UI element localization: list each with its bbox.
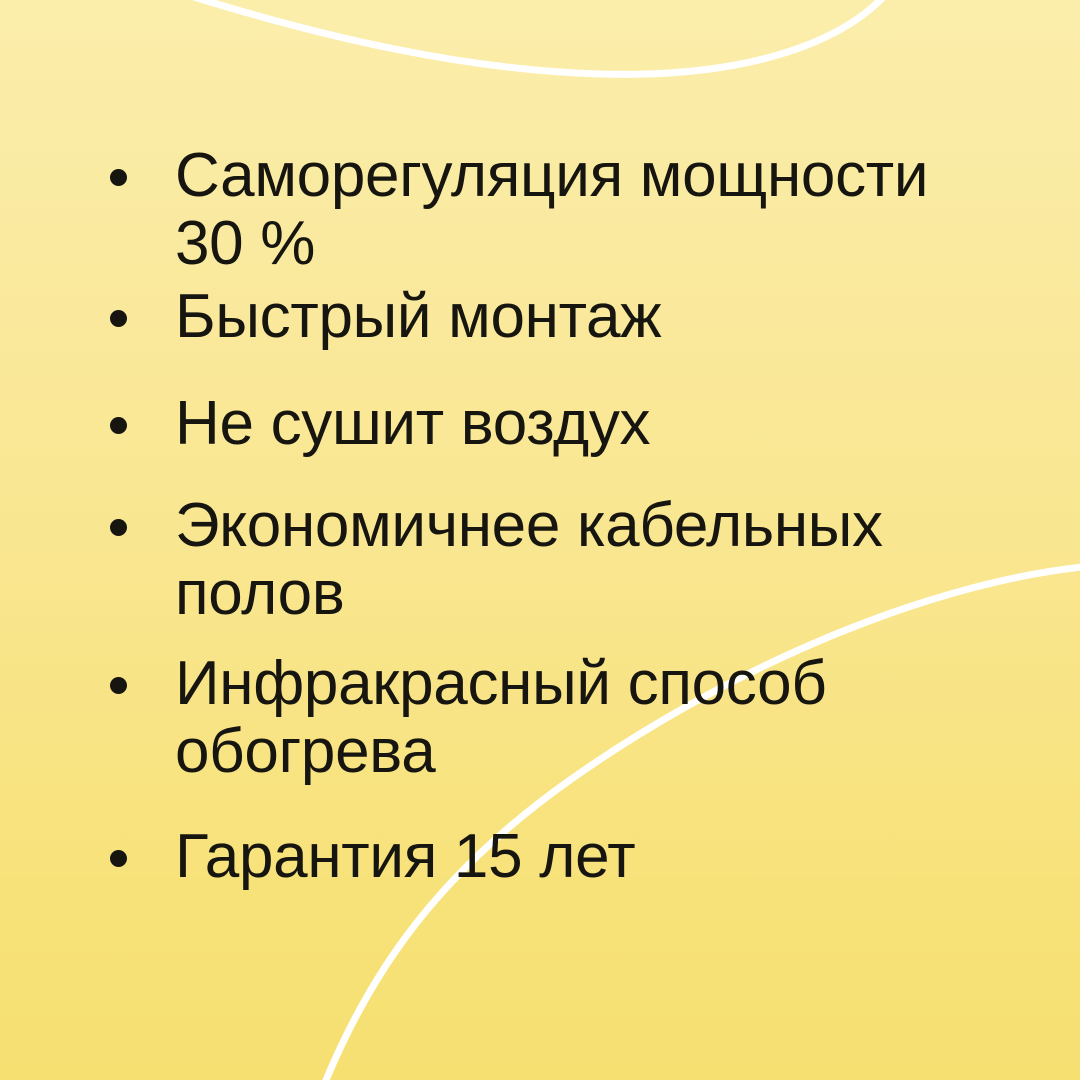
- list-item-label: Экономичнее кабельных полов: [175, 492, 990, 628]
- list-item-label: Инфракрасный способ обогрева: [175, 650, 990, 786]
- list-item: Экономичнее кабельных полов: [110, 492, 990, 628]
- bullet-dot-icon: [110, 850, 127, 867]
- bullet-dot-icon: [110, 417, 127, 434]
- bullet-dot-icon: [110, 519, 127, 536]
- list-item-label: Не сушит воздух: [175, 390, 990, 458]
- list-item: Саморегуляция мощности 30 %: [110, 142, 990, 278]
- list-item-label: Гарантия 15 лет: [175, 823, 990, 891]
- list-item: Не сушит воздух: [110, 390, 990, 458]
- list-item-label: Быстрый монтаж: [175, 283, 990, 351]
- bullet-dot-icon: [110, 169, 127, 186]
- list-item-label: Саморегуляция мощности 30 %: [175, 142, 990, 278]
- feature-bullet-list: Саморегуляция мощности 30 % Быстрый монт…: [0, 0, 1080, 1080]
- bullet-dot-icon: [110, 677, 127, 694]
- slide-canvas: Саморегуляция мощности 30 % Быстрый монт…: [0, 0, 1080, 1080]
- list-item: Инфракрасный способ обогрева: [110, 650, 990, 786]
- bullet-dot-icon: [110, 310, 127, 327]
- list-item: Гарантия 15 лет: [110, 823, 990, 891]
- list-item: Быстрый монтаж: [110, 283, 990, 351]
